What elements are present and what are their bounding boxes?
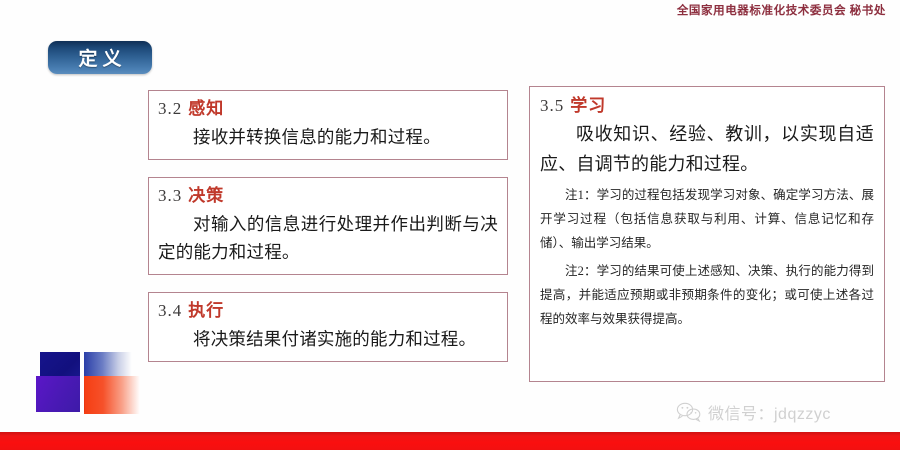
definition-heading: 3.3决策 — [158, 184, 498, 209]
slide-canvas: 全国家用电器标准化技术委员会 秘书处 定义 3.2感知 接收并转换信息的能力和过… — [0, 0, 900, 450]
deco-white-divider — [80, 350, 84, 416]
definition-box-3-3: 3.3决策 对输入的信息进行处理并作出判断与决定的能力和过程。 — [148, 177, 508, 275]
deco-square-violet — [36, 376, 80, 412]
organization-header: 全国家用电器标准化技术委员会 秘书处 — [677, 2, 886, 18]
definition-box-3-4: 3.4执行 将决策结果付诸实施的能力和过程。 — [148, 292, 508, 362]
definition-note-2: 注2：学习的结果可使上述感知、决策、执行的能力得到提高，并能适应预期或非预期条件… — [540, 259, 874, 331]
slide-title-label: 定义 — [73, 44, 126, 71]
right-column: 3.5学习 吸收知识、经验、教训，以实现自适应、自调节的能力和过程。 注1：学习… — [529, 86, 885, 382]
wechat-icon — [676, 402, 702, 422]
definition-box-3-2: 3.2感知 接收并转换信息的能力和过程。 — [148, 90, 508, 160]
definition-term: 执行 — [188, 301, 224, 320]
definition-term: 决策 — [188, 186, 224, 205]
definition-term: 学习 — [570, 96, 606, 115]
definition-body: 吸收知识、经验、教训，以实现自适应、自调节的能力和过程。 — [540, 120, 874, 180]
definition-heading: 3.5学习 — [540, 94, 874, 119]
definition-heading: 3.2感知 — [158, 97, 498, 122]
definition-body: 对输入的信息进行处理并作出判断与决定的能力和过程。 — [158, 210, 498, 267]
wechat-watermark: 微信号：jdqzzyc — [676, 400, 831, 424]
definition-body: 接收并转换信息的能力和过程。 — [158, 123, 498, 151]
deco-square-red-fade — [84, 376, 140, 414]
slide-title-tab: 定义 — [48, 41, 152, 74]
definition-number: 3.5 — [540, 96, 564, 115]
definition-box-3-5: 3.5学习 吸收知识、经验、教训，以实现自适应、自调节的能力和过程。 注1：学习… — [529, 86, 885, 382]
definition-number: 3.4 — [158, 301, 182, 320]
bottom-red-bar — [0, 432, 900, 450]
decorative-squares-graphic — [36, 350, 148, 416]
definition-body: 将决策结果付诸实施的能力和过程。 — [158, 325, 498, 353]
watermark-text: 微信号：jdqzzyc — [708, 400, 831, 424]
definition-heading: 3.4执行 — [158, 299, 498, 324]
definition-number: 3.2 — [158, 99, 182, 118]
left-column: 3.2感知 接收并转换信息的能力和过程。 3.3决策 对输入的信息进行处理并作出… — [148, 90, 508, 379]
definition-note-1: 注1：学习的过程包括发现学习对象、确定学习方法、展开学习过程（包括信息获取与利用… — [540, 183, 874, 255]
definition-number: 3.3 — [158, 186, 182, 205]
definition-term: 感知 — [188, 99, 224, 118]
